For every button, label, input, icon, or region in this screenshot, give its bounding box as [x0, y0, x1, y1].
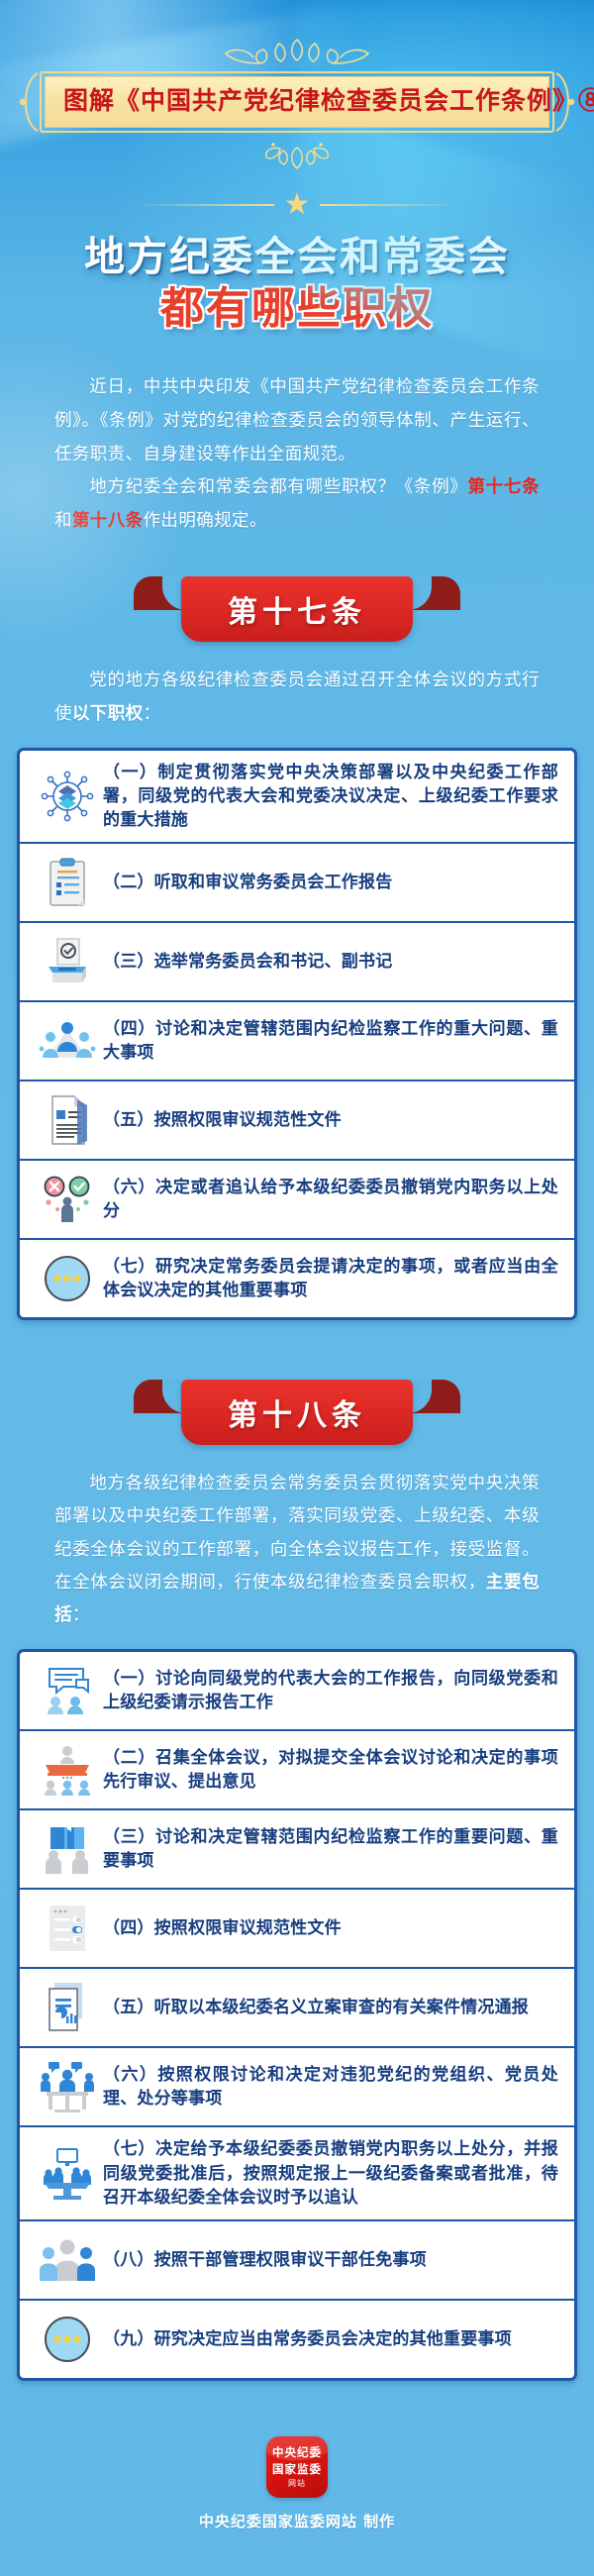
list-item-text: （一）制定贯彻落实党中央决策部署以及中央纪委工作部署，同级党的代表大会和党委决议… — [103, 761, 558, 832]
list-item[interactable]: （九）研究决定应当由常务委员会决定的其他重要事项 — [20, 2301, 574, 2378]
list-item[interactable]: （六）按照权限讨论和决定对违犯党纪的党组织、党员处理、处分等事项 — [20, 2048, 574, 2127]
list-item[interactable]: （二）召集全体会议，对拟提交全体会议讨论和决定的事项先行审议、提出意见 — [20, 1731, 574, 1810]
podium-audience-icon — [40, 1744, 95, 1796]
section-18-lead-c: ： — [72, 1604, 90, 1624]
icon-cell — [32, 933, 103, 990]
ellipsis-circle-icon — [42, 1253, 93, 1304]
ribbon-tab-right — [409, 576, 460, 610]
ccdi-logo: 中央纪委 国家监委 网站 — [266, 2436, 328, 2498]
icon-cell — [32, 1741, 103, 1799]
title-line-2: 都有哪些职权 — [0, 283, 594, 336]
list-item[interactable]: （五）按照权限审议规范性文件 — [20, 1082, 574, 1161]
bottom-flourish-icon — [148, 139, 445, 172]
icon-cell — [32, 2058, 103, 2115]
intro-paragraph-2: 地方纪委全会和常委会都有哪些职权？《条例》第十七条和第十八条作出明确规定。 — [54, 470, 540, 537]
list-item[interactable]: （七）决定给予本级纪委委员撤销党内职务以上处分，并报同级党委批准后，按照规定报上… — [20, 2127, 574, 2220]
list-item-text: （二）听取和审议常务委员会工作报告 — [103, 871, 558, 894]
footer-credit: 中央纪委国家监委网站 制作 — [0, 2511, 594, 2531]
icon-cell — [32, 2231, 103, 2289]
ribbon-body: 第十七条 — [181, 576, 413, 642]
icon-cell — [32, 1900, 103, 1957]
document-review-icon — [45, 1093, 90, 1147]
list-item[interactable]: （六）决定或者追认给予本级纪委委员撤销党内职务以上处分 — [20, 1161, 574, 1240]
list-item[interactable]: （四）按照权限审议规范性文件 — [20, 1890, 574, 1969]
list-item[interactable]: （三）选举常务委员会和书记、副书记 — [20, 923, 574, 1002]
logo-line-3: 网站 — [288, 2478, 306, 2489]
intro-p2-c: 和 — [54, 510, 72, 530]
conference-table-icon — [40, 2147, 95, 2201]
icon-cell — [32, 2311, 103, 2368]
section-17-list-card: （一）制定贯彻落实党中央决策部署以及中央纪委工作部署，同级党的代表大会和党委决议… — [17, 748, 577, 1320]
icon-cell — [32, 1979, 103, 2036]
checklist-toggle-icon — [44, 1903, 91, 1954]
list-item[interactable]: （五）听取以本级纪委名义立案审查的有关案件情况通报 — [20, 1969, 574, 2048]
section-18-lead: 地方各级纪律检查委员会常务委员会贯彻落实党中央决策部署以及中央纪委工作部署，落实… — [54, 1467, 540, 1631]
list-item-text: （四）按照权限审议规范性文件 — [103, 1916, 558, 1940]
list-item-text: （六）决定或者追认给予本级纪委委员撤销党内职务以上处分 — [103, 1176, 558, 1223]
intro-p2-a: 地方纪委全会和常委会都有哪些职权？《条例》 — [89, 476, 467, 496]
list-item[interactable]: （三）讨论和决定管辖范围内纪检监察工作的重要问题、重要事项 — [20, 1810, 574, 1890]
title-line-1: 地方纪委全会和常委会 — [0, 232, 594, 281]
group-meeting-icon — [38, 1018, 97, 1064]
section-17-lead: 党的地方各级纪律检查委员会通过召开全体会议的方式行使以下职权： — [54, 664, 540, 730]
ribbon-tab-left — [134, 1380, 185, 1413]
star-divider: ★ — [134, 190, 460, 220]
list-item-text: （七）研究决定常务委员会提请决定的事项，或者应当由全体会议决定的其他重要事项 — [103, 1255, 558, 1302]
list-item-text: （五）听取以本级纪委名义立案审查的有关案件情况通报 — [103, 1996, 558, 2019]
speech-bubble-people-icon — [42, 1666, 93, 1715]
list-item-text: （八）按照干部管理权限审议干部任免事项 — [103, 2248, 558, 2272]
icon-cell — [32, 1091, 103, 1149]
list-item-text: （六）按照权限讨论和决定对违犯党纪的党组织、党员处理、处分等事项 — [103, 2063, 558, 2111]
section-17-lead-c: ： — [144, 703, 161, 723]
icon-cell — [32, 2145, 103, 2203]
header-banner: 图解《中国共产党纪律检查委员会工作条例》⑧ — [40, 71, 554, 133]
intro-p2-d: 作出明确规定。 — [144, 510, 267, 530]
banner-left-cap-icon — [14, 71, 40, 133]
list-item-text: （三）选举常务委员会和书记、副书记 — [103, 950, 558, 974]
list-item[interactable]: （八）按照干部管理权限审议干部任免事项 — [20, 2221, 574, 2301]
approve-reject-person-icon — [39, 1175, 96, 1224]
list-item-text: （七）决定给予本级纪委委员撤销党内职务以上处分，并报同级党委批准后，按照规定报上… — [103, 2137, 558, 2209]
discussion-table-icon — [39, 2061, 96, 2112]
banner-title: 图解《中国共产党纪律检查委员会工作条例》⑧ — [63, 87, 531, 115]
network-node-icon — [39, 771, 96, 822]
infographic-page: 图解《中国共产党纪律检查委员会工作条例》⑧ ★ 地方纪委全会和常委会 都有哪些职… — [0, 0, 594, 2576]
ellipsis-circle-icon — [42, 2314, 93, 2365]
icon-cell — [32, 854, 103, 911]
icon-cell — [32, 1250, 103, 1307]
three-persons-icon — [40, 2237, 95, 2283]
intro-article-17-ref: 第十七条 — [467, 476, 540, 496]
icon-cell — [32, 1012, 103, 1070]
intro-article-18-ref: 第十八条 — [72, 510, 144, 530]
list-item-text: （九）研究决定应当由常务委员会决定的其他重要事项 — [103, 2327, 558, 2351]
icon-cell — [32, 1662, 103, 1719]
section-17-header: 第十七条 — [134, 576, 460, 642]
divider-line-right — [320, 204, 460, 206]
intro-p1-text: 近日，中共中央印发《中国共产党纪律检查委员会工作条例》。《条例》对党的纪律检查委… — [54, 376, 540, 463]
list-item-text: （四）讨论和决定管辖范围内纪检监察工作的重大问题、重大事项 — [103, 1017, 558, 1065]
ballot-box-icon — [41, 937, 94, 986]
ribbon-tab-left — [134, 576, 185, 610]
section-18-lead-a: 地方各级纪律检查委员会常务委员会贯彻落实党中央决策部署以及中央纪委工作部署，落实… — [54, 1473, 540, 1592]
section-17-title: 第十七条 — [228, 587, 366, 631]
ribbon-tab-right — [409, 1380, 460, 1413]
list-item[interactable]: （一）制定贯彻落实党中央决策部署以及中央纪委工作部署，同级党的代表大会和党委决议… — [20, 751, 574, 844]
section-17-lead-emphasis: 以下职权 — [72, 703, 144, 723]
report-chart-icon — [43, 1981, 92, 2034]
logo-line-2: 国家监委 — [272, 2461, 322, 2478]
section-18-header: 第十八条 — [134, 1380, 460, 1445]
intro-paragraph-1: 近日，中共中央印发《中国共产党纪律检查委员会工作条例》。《条例》对党的纪律检查委… — [54, 370, 540, 470]
divider-line-left — [134, 204, 274, 206]
icon-cell — [32, 1171, 103, 1228]
logo-line-1: 中央纪委 — [272, 2444, 322, 2461]
list-item-text: （五）按照权限审议规范性文件 — [103, 1108, 558, 1132]
list-item[interactable]: （二）听取和审议常务委员会工作报告 — [20, 844, 574, 923]
section-18-list-card: （一）讨论向同级党的代表大会的工作报告，向同级党委和上级纪委请示报告工作 — [17, 1649, 577, 2380]
list-item-text: （二）召集全体会议，对拟提交全体会议讨论和决定的事项先行审议、提出意见 — [103, 1746, 558, 1794]
list-item-text: （一）讨论向同级党的代表大会的工作报告，向同级党委和上级纪委请示报告工作 — [103, 1667, 558, 1714]
ribbon-body: 第十八条 — [181, 1380, 413, 1445]
star-icon: ★ — [284, 190, 311, 220]
clipboard-report-icon — [46, 857, 89, 908]
puzzle-people-icon — [41, 1823, 94, 1875]
list-item-text: （三）讨论和决定管辖范围内纪检监察工作的重要问题、重要事项 — [103, 1825, 558, 1873]
list-item[interactable]: （一）讨论向同级党的代表大会的工作报告，向同级党委和上级纪委请示报告工作 — [20, 1652, 574, 1731]
icon-cell — [32, 768, 103, 825]
section-18-title: 第十八条 — [228, 1391, 366, 1434]
page-title: 地方纪委全会和常委会 都有哪些职权 — [0, 232, 594, 336]
footer: 中央纪委 国家监委 网站 中央纪委国家监委网站 制作 — [0, 2436, 594, 2571]
list-item[interactable]: （四）讨论和决定管辖范围内纪检监察工作的重大问题、重大事项 — [20, 1002, 574, 1082]
list-item[interactable]: （七）研究决定常务委员会提请决定的事项，或者应当由全体会议决定的其他重要事项 — [20, 1240, 574, 1317]
top-flourish-icon — [148, 34, 445, 71]
header-ornament-block: 图解《中国共产党纪律检查委员会工作条例》⑧ ★ — [0, 0, 594, 220]
icon-cell — [32, 1820, 103, 1878]
